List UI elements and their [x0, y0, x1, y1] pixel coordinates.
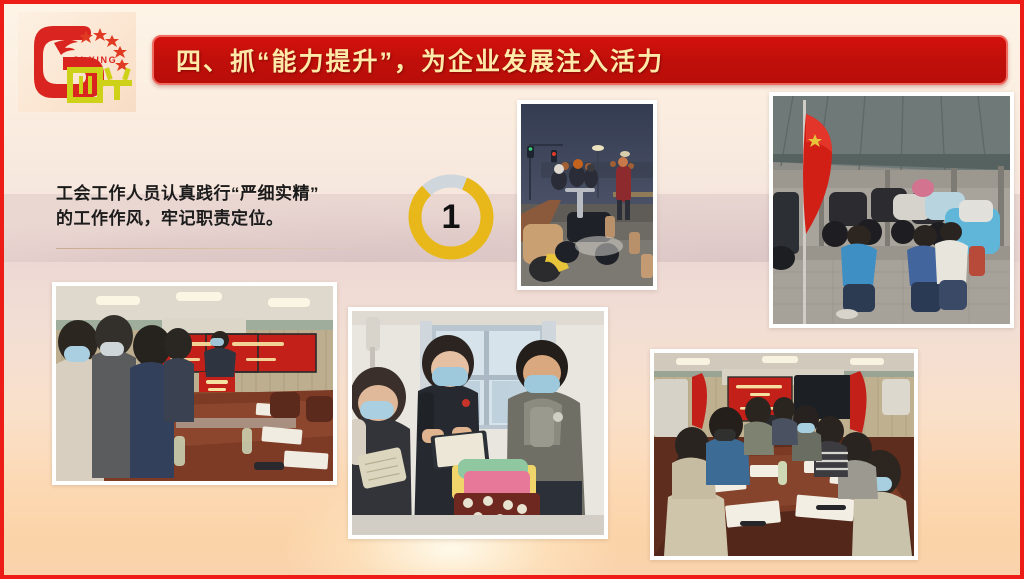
step-number-ring: 1 — [403, 169, 499, 265]
photo-conference-room-screens — [52, 282, 337, 485]
photo-scooter-shed-flag — [769, 92, 1014, 328]
company-logo: SI XING — [18, 12, 136, 112]
logo-flame — [54, 40, 78, 55]
logo-latin-text: SI XING — [73, 55, 117, 65]
photo-meeting-art — [56, 286, 333, 481]
attendees-left — [56, 315, 194, 481]
photo-home-visit-notebooks — [348, 307, 608, 539]
photo-visit-art — [352, 311, 604, 535]
person-left — [352, 367, 412, 535]
photo-study-session-table — [650, 349, 918, 560]
step-number-label: 1 — [403, 169, 499, 265]
caption-divider — [56, 248, 376, 249]
photo-study-art — [654, 353, 914, 556]
photo-night-art — [521, 104, 653, 286]
photo-shed-art — [773, 96, 1010, 324]
page-title: 四、抓“能力提升”，为企业发展注入活力 — [176, 42, 664, 78]
photo-night-street-scooters — [517, 100, 657, 290]
slide-canvas: SI XING 四、抓“能力提升”，为企业发展注入活力 工会工作人员认真践行“严… — [0, 0, 1024, 579]
section-title-bar: 四、抓“能力提升”，为企业发展注入活力 — [152, 35, 1008, 85]
logo-artwork: SI XING — [18, 12, 136, 112]
caption-block: 工会工作人员认真践行“严细实精” 的工作作风，牢记职责定位。 — [56, 182, 386, 249]
caption-line-1: 工会工作人员认真践行“严细实精” — [56, 182, 386, 207]
caption-line-2: 的工作作风，牢记职责定位。 — [56, 207, 386, 232]
